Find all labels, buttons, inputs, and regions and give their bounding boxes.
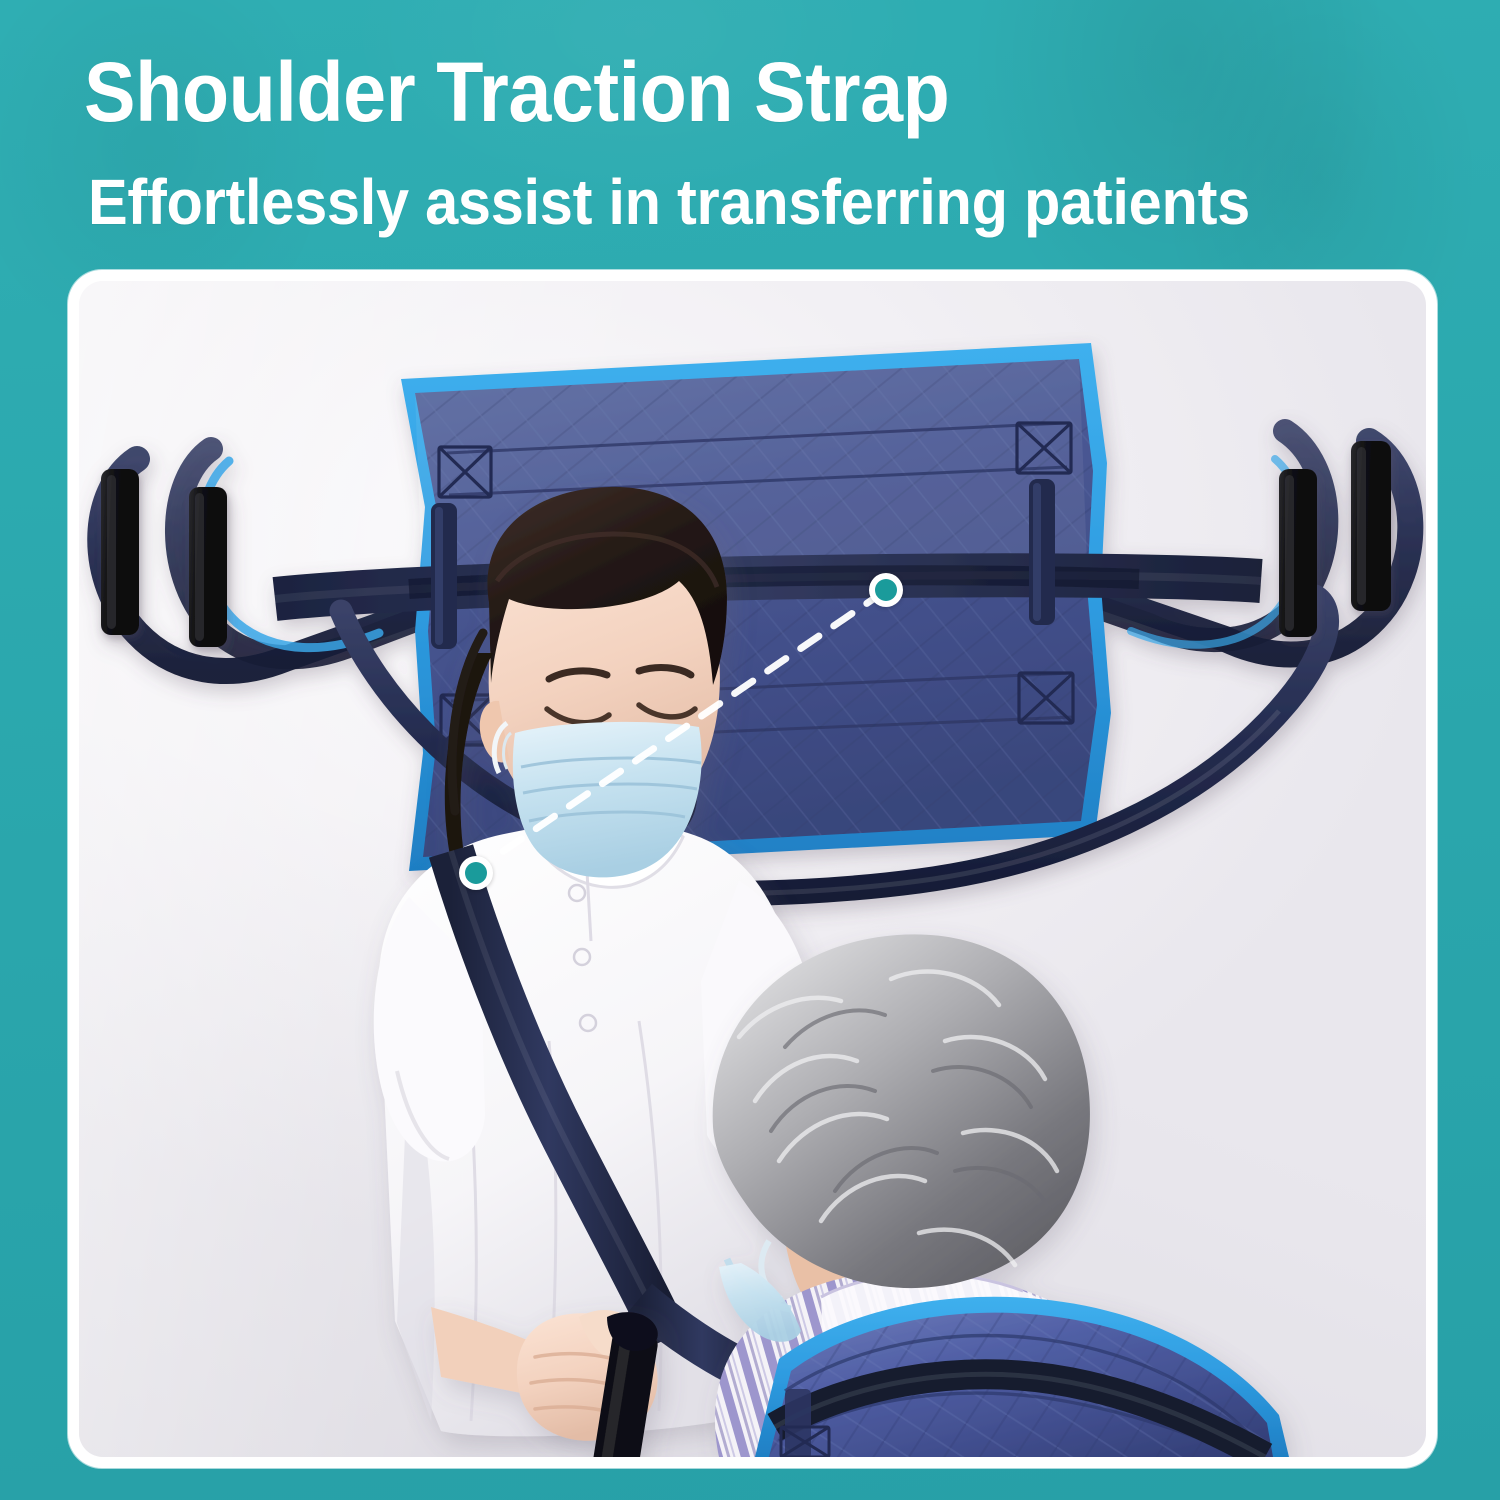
marker-buckle[interactable] <box>869 573 903 607</box>
photo-card <box>68 270 1437 1468</box>
marker-shoulder[interactable] <box>459 856 493 890</box>
transfer-scene <box>79 281 1426 1457</box>
patient-figure <box>713 934 1289 1457</box>
scene-illustration <box>79 281 1426 1457</box>
marker-dot <box>875 579 897 601</box>
banner-header: Shoulder Traction Strap Effortlessly ass… <box>0 0 1500 268</box>
product-photo <box>79 281 1426 1457</box>
product-banner: Shoulder Traction Strap Effortlessly ass… <box>0 0 1500 1500</box>
marker-dot <box>465 862 487 884</box>
banner-title: Shoulder Traction Strap <box>84 48 949 136</box>
banner-subtitle: Effortlessly assist in transferring pati… <box>88 166 1250 238</box>
